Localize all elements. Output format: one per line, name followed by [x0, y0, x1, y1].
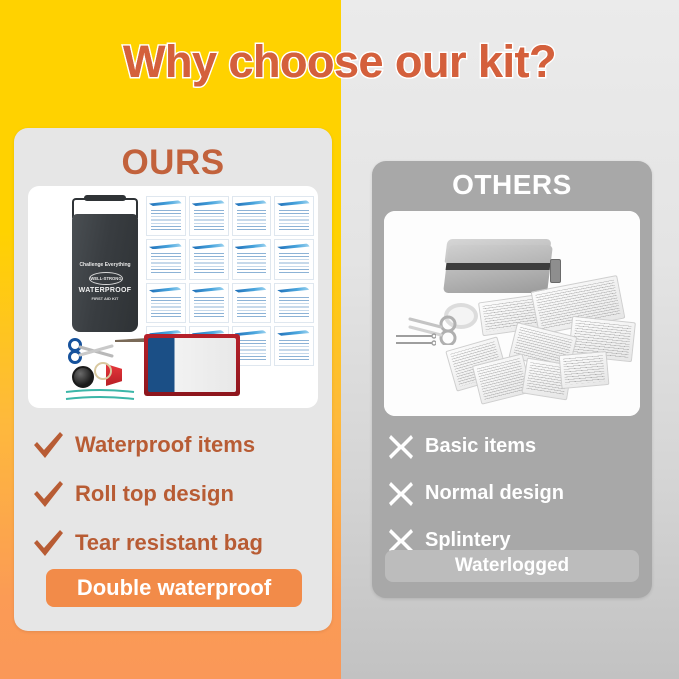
check-icon [32, 430, 65, 460]
ours-product-photo: Challenge Everything WELL-STRONG WATERPR… [28, 186, 318, 408]
supply-packet [189, 283, 229, 323]
comparison-infographic: Why choose our kit? Why choose our kit? … [0, 0, 679, 679]
ours-heading: OURS [14, 145, 332, 180]
supply-packet [146, 283, 186, 323]
supply-packet [274, 283, 314, 323]
drybag-tagline: Challenge Everything [72, 262, 138, 268]
supply-packet [146, 196, 186, 236]
page-title: Why choose our kit? [0, 36, 679, 88]
others-heading: OTHERS [372, 171, 652, 199]
supply-packet [189, 239, 229, 279]
supply-packet [274, 196, 314, 236]
safety-pins-icon [394, 333, 436, 347]
others-feature-row: Basic items [372, 423, 652, 470]
supply-packet [232, 196, 272, 236]
drybag-label-waterproof: WATERPROOF [72, 287, 138, 294]
others-feature-label: Splintery [425, 529, 511, 552]
supply-packet [559, 351, 610, 389]
scissors-icon [68, 338, 114, 364]
safety-pins-icon [64, 388, 138, 402]
others-feature-label: Basic items [425, 435, 536, 458]
compass-icon [72, 366, 94, 388]
supply-packet [232, 283, 272, 323]
double-waterproof-badge[interactable]: Double waterproof [46, 569, 302, 607]
cross-icon [388, 481, 414, 507]
others-feature-list: Basic items Normal design Splintery [372, 423, 652, 564]
others-feature-row: Normal design [372, 470, 652, 517]
others-product-photo [384, 211, 640, 416]
check-icon [32, 479, 65, 509]
cross-icon [388, 434, 414, 460]
packet-text-lines [563, 355, 605, 384]
ours-feature-label: Tear resistant bag [75, 530, 263, 556]
gray-case-zipper [446, 263, 551, 270]
ours-feature-row: Tear resistant bag [14, 518, 332, 567]
ours-feature-label: Waterproof items [75, 432, 255, 458]
ours-card: OURS Challenge Everything WELL-STRONG WA… [14, 128, 332, 631]
supply-packet [274, 239, 314, 279]
supply-packet [274, 326, 314, 366]
supply-packet [232, 239, 272, 279]
drybag-brand-logo: WELL-STRONG [89, 272, 123, 285]
others-photo-scene [384, 211, 640, 416]
supply-packet [189, 196, 229, 236]
ours-feature-list: Waterproof items Roll top design Tear re… [14, 420, 332, 567]
ours-feature-row: Waterproof items [14, 420, 332, 469]
red-pouch-interior [148, 338, 236, 392]
drybag-label-firstaidkit: FIRST AID KIT [72, 296, 138, 301]
check-icon [32, 528, 65, 558]
others-card: OTHERS [372, 161, 652, 598]
red-first-aid-pouch [144, 334, 240, 396]
others-feature-label: Normal design [425, 482, 564, 505]
ours-feature-row: Roll top design [14, 469, 332, 518]
ring-icon [94, 362, 112, 380]
packet-text-lines [477, 358, 527, 400]
supply-packet [146, 239, 186, 279]
ours-feature-label: Roll top design [75, 481, 234, 507]
waterlogged-badge[interactable]: Waterlogged [385, 550, 639, 582]
ours-photo-scene: Challenge Everything WELL-STRONG WATERPR… [28, 186, 318, 408]
gray-case-zipper-pull [550, 259, 561, 283]
